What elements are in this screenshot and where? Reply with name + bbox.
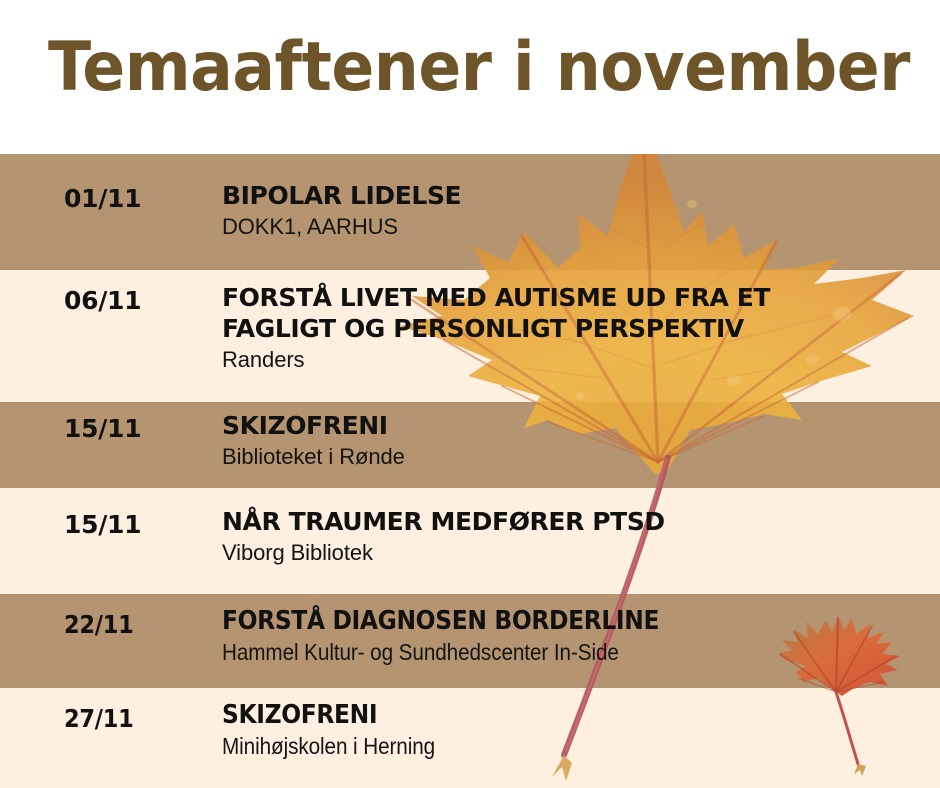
- event-date: 01/11: [64, 184, 141, 213]
- list-item[interactable]: 15/11 SKIZOFRENI Biblioteket i Rønde: [0, 402, 940, 488]
- event-location: Hammel Kultur- og Sundhedscenter In-Side: [222, 639, 861, 666]
- event-title: NÅR TRAUMER MEDFØRER PTSD: [222, 506, 932, 537]
- event-title: FORSTÅ DIAGNOSEN BORDERLINE: [222, 606, 861, 637]
- event-location: Viborg Bibliotek: [222, 539, 932, 566]
- poster-header: Temaaftener i november: [0, 0, 940, 154]
- event-date: 06/11: [64, 286, 141, 315]
- event-location: Biblioteket i Rønde: [222, 443, 932, 470]
- list-item[interactable]: 27/11 SKIZOFRENI Minihøjskolen i Herning: [0, 688, 940, 788]
- list-item[interactable]: 15/11 NÅR TRAUMER MEDFØRER PTSD Viborg B…: [0, 488, 940, 594]
- event-date: 15/11: [64, 414, 141, 443]
- event-title: FORSTÅ LIVET MED AUTISME UD FRA ET FAGLI…: [222, 282, 932, 344]
- event-title: BIPOLAR LIDELSE: [222, 180, 932, 211]
- page-title: Temaaftener i november: [48, 26, 910, 110]
- list-item[interactable]: 22/11 FORSTÅ DIAGNOSEN BORDERLINE Hammel…: [0, 594, 940, 688]
- event-location: DOKK1, AARHUS: [222, 213, 932, 240]
- event-date: 27/11: [64, 704, 133, 733]
- event-location: Minihøjskolen i Herning: [222, 733, 861, 760]
- event-date: 22/11: [64, 610, 133, 639]
- event-location: Randers: [222, 346, 932, 373]
- event-title: SKIZOFRENI: [222, 410, 932, 441]
- list-item[interactable]: 06/11 FORSTÅ LIVET MED AUTISME UD FRA ET…: [0, 270, 940, 402]
- event-date: 15/11: [64, 510, 141, 539]
- list-item[interactable]: 01/11 BIPOLAR LIDELSE DOKK1, AARHUS: [0, 154, 940, 270]
- event-title: SKIZOFRENI: [222, 700, 861, 731]
- poster: Temaaftener i november 01/11 BIPOLAR LID…: [0, 0, 940, 788]
